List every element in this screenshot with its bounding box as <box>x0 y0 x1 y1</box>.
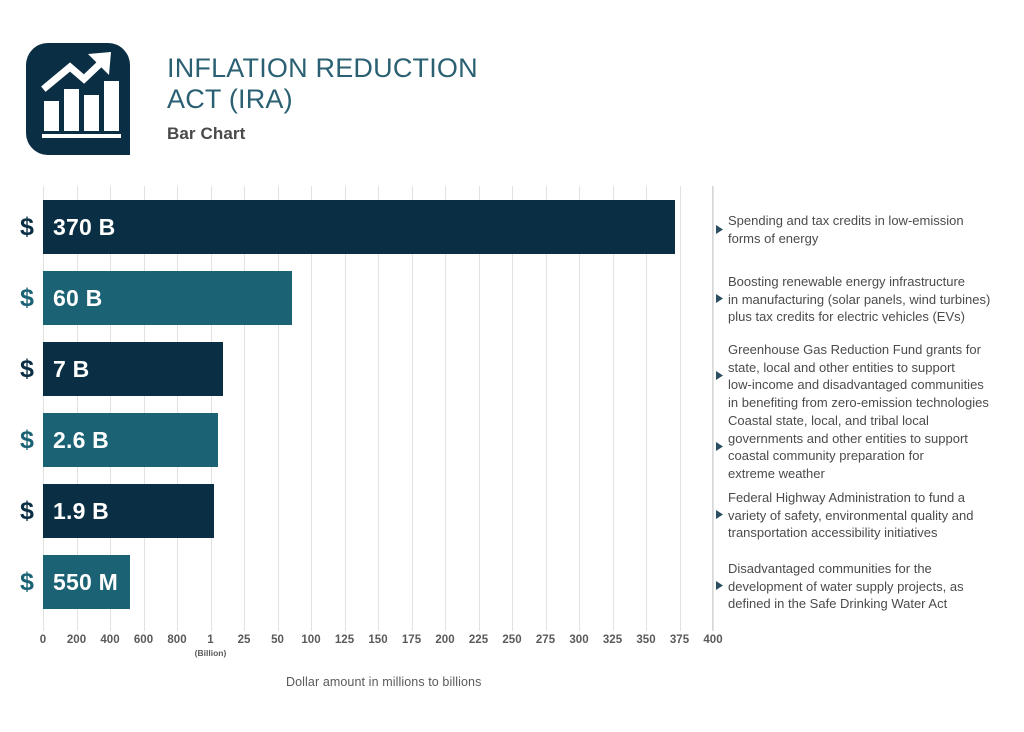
bar-row: $370 B <box>0 200 712 254</box>
annotation-text: Disadvantaged communities for the develo… <box>728 560 964 613</box>
chart-plot-area: $370 B$60 B$7 B$2.6 B$1.9 B$550 M Spendi… <box>0 186 1024 631</box>
logo-tile <box>26 43 130 155</box>
bar-value-label: 370 B <box>53 200 115 254</box>
axis-tick-sublabel: (Billion) <box>191 648 231 658</box>
annotation-text: Greenhouse Gas Reduction Fund grants for… <box>728 341 989 411</box>
annotation-text: Boosting renewable energy infrastructure… <box>728 273 990 326</box>
annotation: Disadvantaged communities for the develo… <box>716 560 1016 613</box>
bar-chart-growth-icon <box>26 43 130 155</box>
bar: 60 B <box>43 271 292 325</box>
page-title: INFLATION REDUCTION ACT (IRA) <box>167 53 687 115</box>
bar-currency-symbol: $ <box>20 200 34 254</box>
bar-value-label: 7 B <box>53 342 89 396</box>
annotation: Spending and tax credits in low-emission… <box>716 212 1016 247</box>
annotation: Boosting renewable energy infrastructure… <box>716 273 1016 326</box>
bar-value-label: 60 B <box>53 271 102 325</box>
bar-row: $7 B <box>0 342 712 396</box>
title-block: INFLATION REDUCTION ACT (IRA) Bar Chart <box>167 53 687 144</box>
x-axis: 02004006008001(Billion)25501001251501752… <box>0 634 1024 674</box>
bar-row: $2.6 B <box>0 413 712 467</box>
bar-currency-symbol: $ <box>20 342 34 396</box>
bar-currency-symbol: $ <box>20 484 34 538</box>
gridline <box>713 186 714 631</box>
triangle-right-icon <box>716 577 726 595</box>
bar: 550 M <box>43 555 130 609</box>
bar-row: $60 B <box>0 271 712 325</box>
annotation: Greenhouse Gas Reduction Fund grants for… <box>716 341 1016 411</box>
axis-caption: Dollar amount in millions to billions <box>286 675 481 689</box>
bar-currency-symbol: $ <box>20 413 34 467</box>
triangle-right-icon <box>716 290 726 308</box>
bar-row: $1.9 B <box>0 484 712 538</box>
bar: 2.6 B <box>43 413 218 467</box>
bar-value-label: 550 M <box>53 555 118 609</box>
bar-value-label: 2.6 B <box>53 413 109 467</box>
triangle-right-icon <box>716 221 726 239</box>
bar: 370 B <box>43 200 675 254</box>
bar-currency-symbol: $ <box>20 555 34 609</box>
triangle-right-icon <box>716 438 726 456</box>
axis-tick-label: 400 <box>693 634 733 646</box>
page-subtitle: Bar Chart <box>167 124 687 144</box>
annotation: Coastal state, local, and tribal local g… <box>716 412 1016 482</box>
bar-row: $550 M <box>0 555 712 609</box>
annotation-text: Coastal state, local, and tribal local g… <box>728 412 968 482</box>
triangle-right-icon <box>716 367 726 385</box>
annotation-text: Spending and tax credits in low-emission… <box>728 212 964 247</box>
chart-annotation-divider <box>712 186 713 631</box>
bar: 1.9 B <box>43 484 214 538</box>
bar: 7 B <box>43 342 223 396</box>
annotation-text: Federal Highway Administration to fund a… <box>728 489 973 542</box>
header: INFLATION REDUCTION ACT (IRA) Bar Chart <box>0 0 1024 170</box>
triangle-right-icon <box>716 506 726 524</box>
bar-value-label: 1.9 B <box>53 484 109 538</box>
annotation: Federal Highway Administration to fund a… <box>716 489 1016 542</box>
bar-currency-symbol: $ <box>20 271 34 325</box>
